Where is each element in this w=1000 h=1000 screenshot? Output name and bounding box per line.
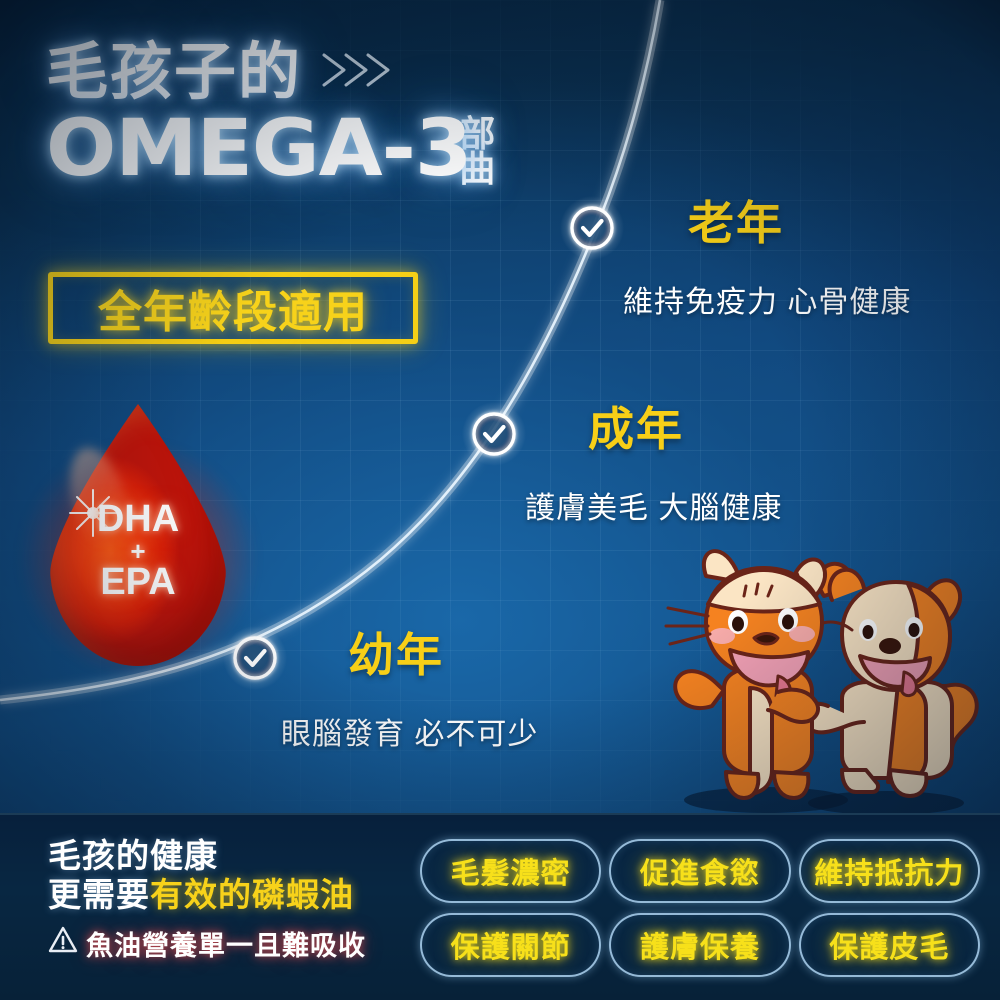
benefit-badge[interactable]: 護膚保養 [609, 913, 790, 977]
all-ages-badge: 全年齡段適用 [48, 272, 418, 344]
bottom-warning: 魚油營養單一且難吸收 [48, 924, 428, 963]
cartoon-dog-icon [804, 564, 977, 796]
droplet-epa: EPA [50, 563, 226, 603]
headline-line1: 毛孩子的 [46, 42, 566, 104]
poster-root: 毛孩子的 OMEGA-3 部 曲 全年齡段適用 [0, 0, 1000, 1000]
stage-adult: 成年 護膚美毛 大腦健康 [588, 406, 684, 452]
stage-puppy-title: 幼年 [348, 632, 444, 678]
warning-triangle-icon [48, 926, 78, 961]
bottom-line2-plain: 更需要 [48, 876, 150, 913]
bottom-line1: 毛孩的健康 [48, 837, 428, 876]
dha-epa-droplet: DHA + EPA [38, 404, 238, 672]
bottom-bar: 毛孩的健康 更需要有效的磷蝦油 魚油營養單一且難吸收 毛髮濃密 促進食慾 維持抵… [0, 813, 1000, 1000]
benefit-badge-label: 維持抵抗力 [814, 850, 964, 892]
headline-line2: OMEGA-3 部 曲 [46, 112, 566, 187]
triple-chevron-right-icon [318, 42, 392, 104]
benefit-badge-label: 保護皮毛 [829, 924, 949, 966]
check-circle-icon-senior[interactable] [560, 196, 624, 260]
benefit-badge-label: 毛髮濃密 [451, 850, 571, 892]
benefit-badge[interactable]: 維持抵抗力 [799, 839, 980, 903]
droplet-dha: DHA [50, 500, 226, 540]
bottom-message: 毛孩的健康 更需要有效的磷蝦油 魚油營養單一且難吸收 [48, 837, 428, 963]
bottom-line2-highlight: 有效的磷蝦油 [150, 876, 354, 913]
benefit-badge-label: 護膚保養 [640, 924, 760, 966]
benefit-badge[interactable]: 保護皮毛 [799, 913, 980, 977]
cartoon-cat-icon [666, 551, 825, 798]
benefit-badge[interactable]: 毛髮濃密 [420, 839, 601, 903]
stage-adult-desc: 護膚美毛 大腦健康 [525, 494, 782, 524]
benefit-badge-list: 毛髮濃密 促進食慾 維持抵抗力 保護關節 護膚保養 保護皮毛 [420, 839, 980, 977]
headline-block: 毛孩子的 OMEGA-3 部 曲 [46, 42, 566, 187]
stage-senior-desc: 維持免疫力 心骨健康 [623, 288, 911, 318]
bottom-line2: 更需要有效的磷蝦油 [48, 876, 428, 915]
stage-senior: 老年 維持免疫力 心骨健康 [688, 200, 784, 246]
stage-puppy-desc: 眼腦發育 必不可少 [281, 720, 538, 750]
stage-senior-title: 老年 [688, 200, 784, 246]
benefit-badge-label: 保護關節 [451, 924, 571, 966]
stage-puppy: 幼年 眼腦發育 必不可少 [348, 632, 444, 678]
all-ages-badge-label: 全年齡段適用 [98, 276, 368, 340]
benefit-badge-label: 促進食慾 [640, 850, 760, 892]
omega-title: OMEGA-3 [46, 112, 471, 186]
pets-illustration [646, 538, 990, 818]
benefit-badge[interactable]: 保護關節 [420, 913, 601, 977]
check-circle-icon-adult[interactable] [462, 402, 526, 466]
headline-line1-text: 毛孩子的 [46, 42, 302, 104]
bottom-warning-text: 魚油營養單一且難吸收 [86, 924, 366, 963]
droplet-label: DHA + EPA [50, 500, 226, 602]
stage-adult-title: 成年 [588, 406, 684, 452]
benefit-badge[interactable]: 促進食慾 [609, 839, 790, 903]
